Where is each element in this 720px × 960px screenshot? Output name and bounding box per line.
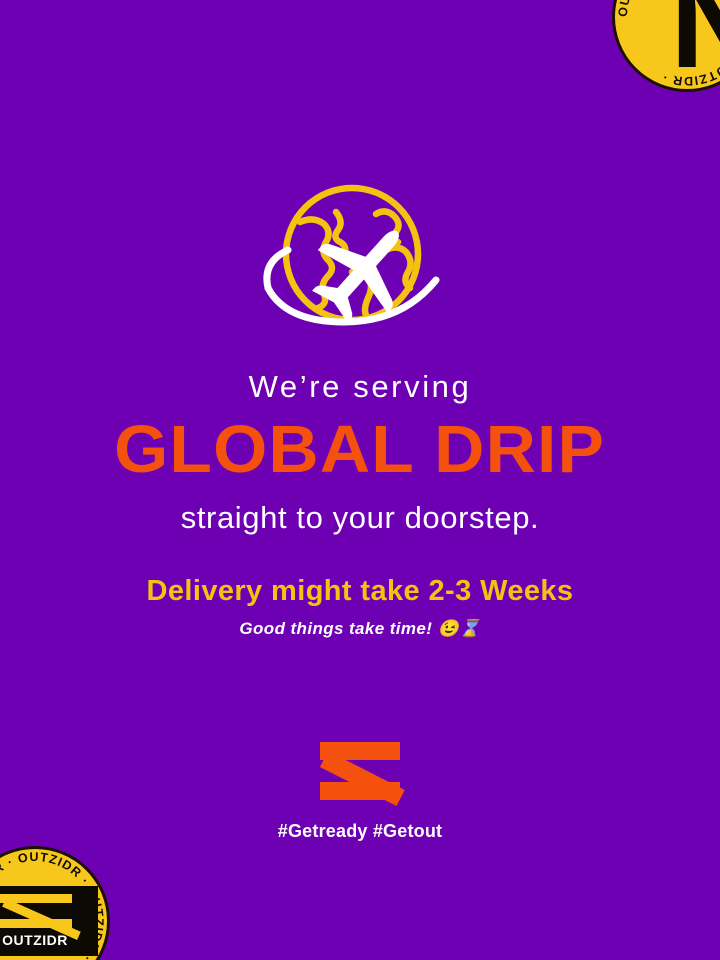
- outzidr-z-logo: [320, 742, 400, 800]
- hashtags-text: #Getready #Getout: [278, 822, 442, 840]
- badge-z-bottom-bar: [0, 919, 72, 928]
- globe-with-airplane-icon: [240, 176, 480, 336]
- outzidr-stamp-badge-bottom-left: OUTZIDR · OUTZIDR · OUTZIDR · OUTZIDR · …: [0, 846, 110, 960]
- subline-text: straight to your doorstep.: [181, 502, 540, 533]
- eyebrow-text: We’re serving: [249, 371, 472, 402]
- delivery-reassurance: Good things take time! 😉⌛: [239, 620, 480, 637]
- badge-center-wordmark: OUTZIDR: [2, 932, 68, 948]
- z-logo-bottom-bar: [320, 782, 400, 800]
- badge-core: OUTZIDR: [0, 886, 98, 956]
- badge-z-mark: [0, 894, 72, 928]
- page-title: GLOBAL DRIP: [115, 416, 606, 483]
- delivery-notice: Delivery might take 2-3 Weeks: [147, 577, 574, 606]
- footer: #Getready #Getout: [0, 742, 720, 840]
- outzidr-stamp-badge-top-right: OUTZIDR · OUTZIDR · OUTZIDR · OUTZIDR · …: [612, 0, 720, 92]
- badge-big-glyph: N: [670, 0, 720, 88]
